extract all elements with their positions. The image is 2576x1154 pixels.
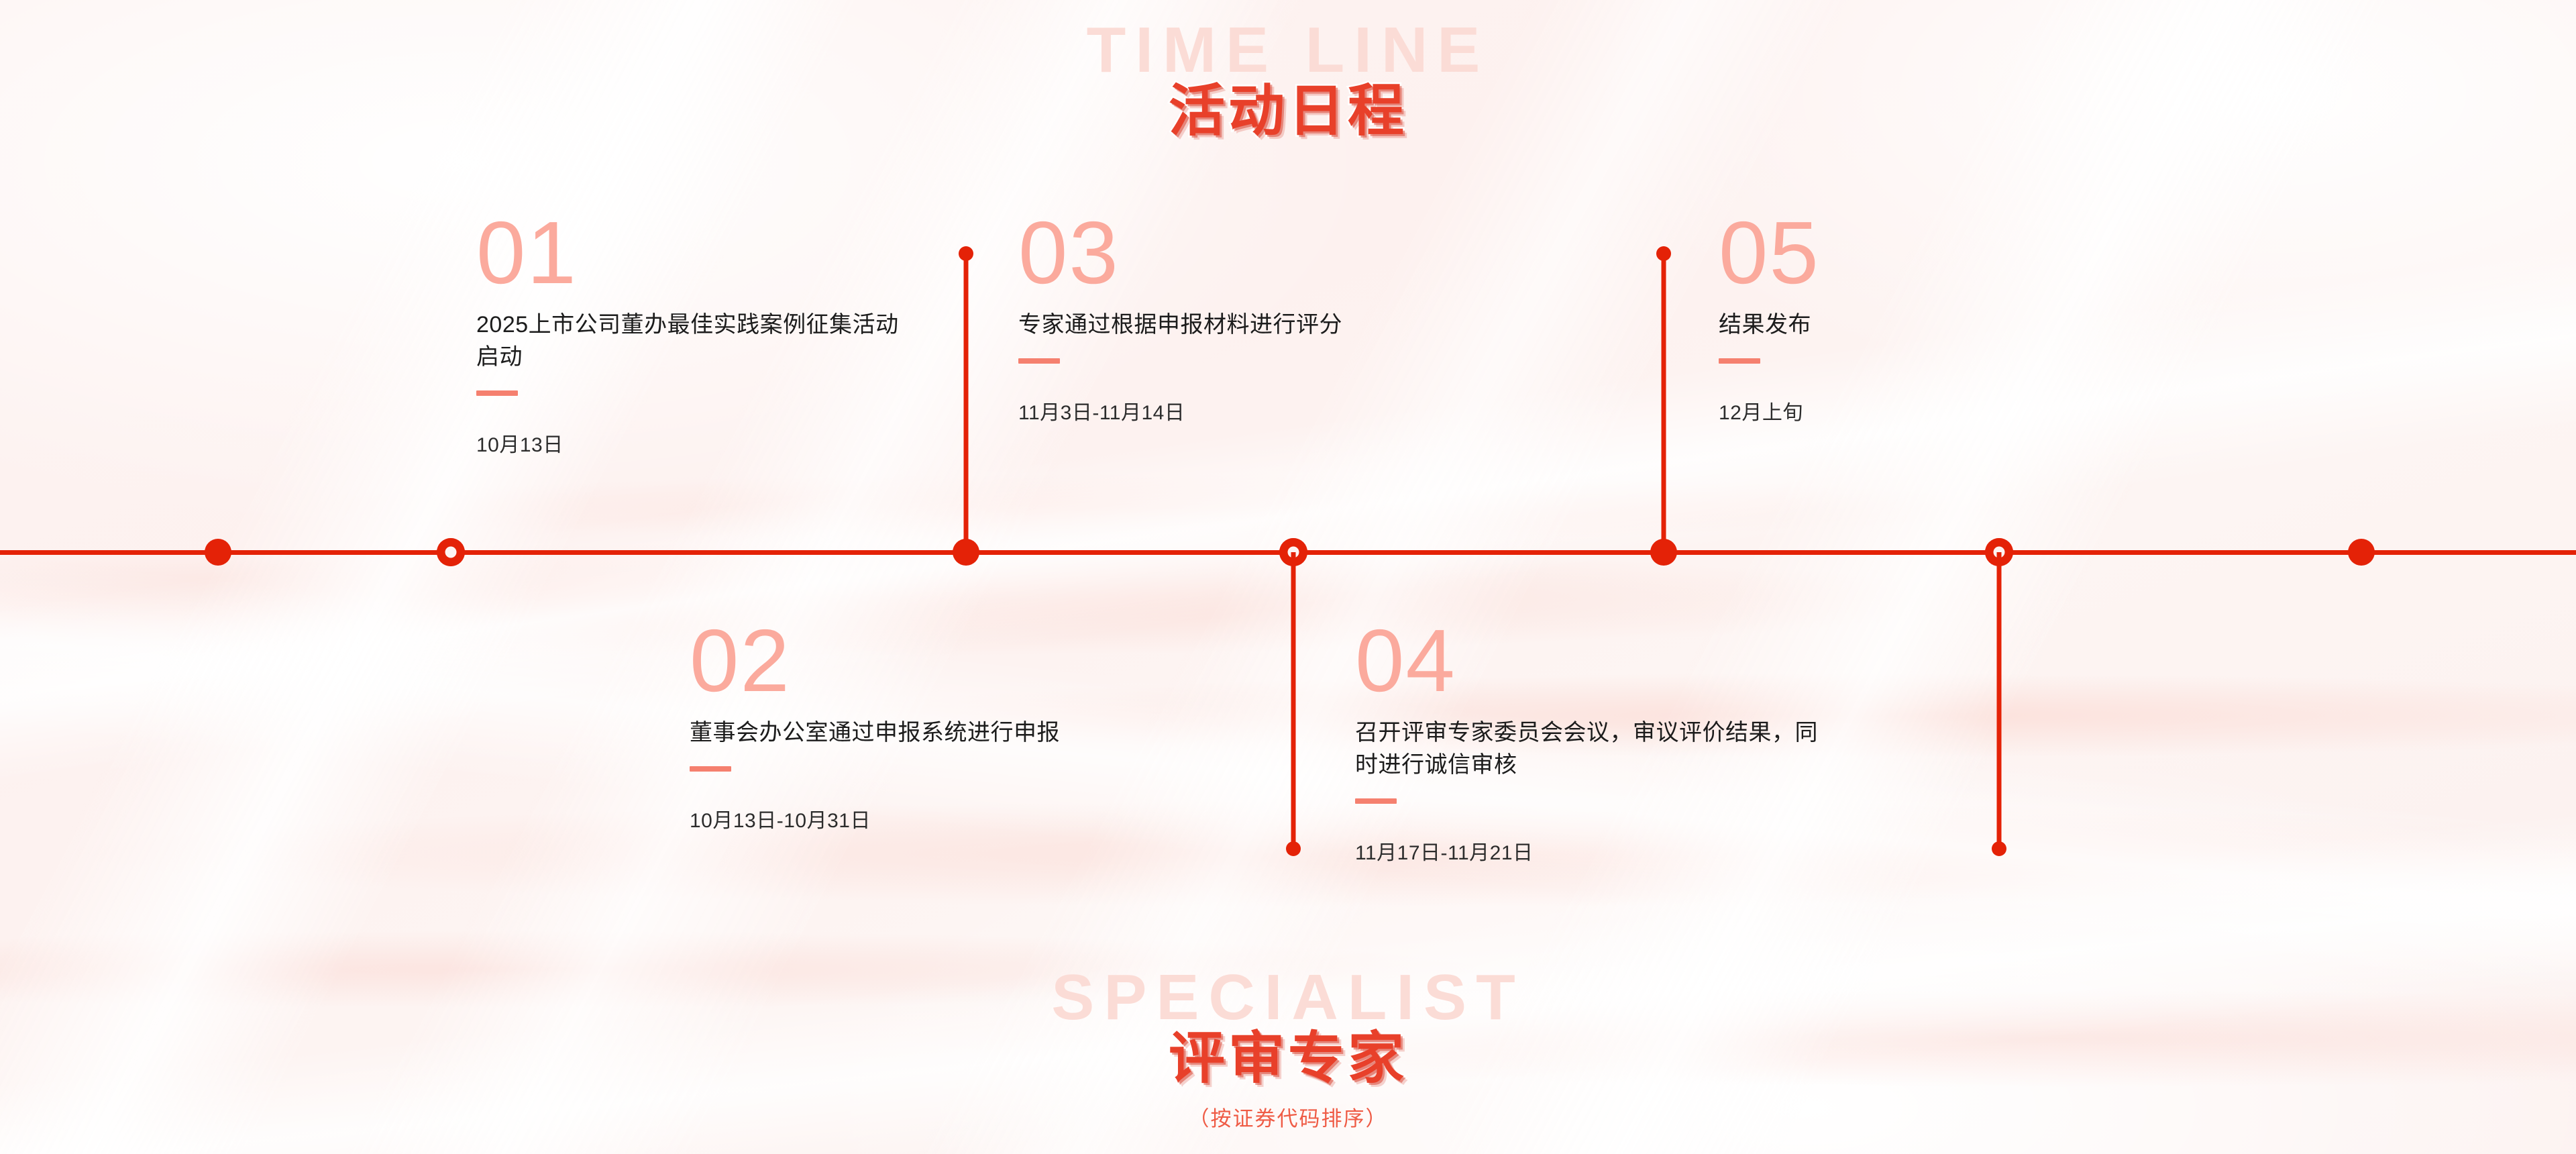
timeline-item-04-date: 11月17日-11月21日 <box>1355 836 1838 865</box>
stem-cap-03 <box>959 246 973 261</box>
background-base <box>0 0 2576 1154</box>
schedule-watermark: TIME LINE <box>0 13 2576 87</box>
specialist-title: 评审专家 <box>1169 1013 1407 1094</box>
timeline-item-02-title: 董事会办公室通过申报系统进行申报 <box>690 717 1159 749</box>
background-highlights <box>0 0 2576 1154</box>
timeline-item-03-date: 11月3日-11月14日 <box>1018 396 1488 425</box>
timeline-item-01-rule <box>476 390 518 396</box>
timeline-item-02-date: 10月13日-10月31日 <box>690 804 1159 833</box>
timeline-item-01-date: 10月13日 <box>476 428 919 458</box>
stem-05 <box>1662 254 1666 552</box>
timeline-item-02-rule <box>690 766 731 772</box>
specialist-heading: SPECIALIST 评审专家 （按证券代码排序） <box>0 961 2576 1042</box>
timeline-item-02[interactable]: 02 董事会办公室通过申报系统进行申报 10月13日-10月31日 <box>690 623 1159 833</box>
timeline-infographic: TIME LINE 活动日程 01 2025上市公司董办最佳实践案例征集活动启动… <box>0 0 2576 1154</box>
timeline-item-05-rule <box>1719 358 1760 364</box>
stem-02 <box>1291 552 1296 849</box>
timeline-item-03[interactable]: 03 专家通过根据申报材料进行评分 11月3日-11月14日 <box>1018 215 1488 425</box>
specialist-watermark: SPECIALIST <box>0 961 2576 1035</box>
schedule-title: 活动日程 <box>1169 66 1407 147</box>
timeline-item-01-title: 2025上市公司董办最佳实践案例征集活动启动 <box>476 309 919 374</box>
timeline-item-04-rule <box>1355 798 1397 804</box>
stem-04 <box>1997 552 2002 849</box>
timeline-item-03-title: 专家通过根据申报材料进行评分 <box>1018 309 1488 341</box>
stem-03 <box>964 254 969 552</box>
timeline-item-01[interactable]: 01 2025上市公司董办最佳实践案例征集活动启动 10月13日 <box>476 215 919 458</box>
timeline-item-05-date: 12月上旬 <box>1719 396 2135 425</box>
timeline-item-05-title: 结果发布 <box>1719 309 2135 341</box>
timeline-item-02-number: 02 <box>690 623 1159 699</box>
axis-node-01 <box>437 538 465 566</box>
stem-cap-04 <box>1992 841 2006 856</box>
timeline-item-05[interactable]: 05 结果发布 12月上旬 <box>1719 215 2135 425</box>
specialist-subtitle: （按证券代码排序） <box>0 1102 2576 1132</box>
background-streaks <box>0 0 2576 1154</box>
timeline-item-05-number: 05 <box>1719 215 2135 291</box>
stem-cap-02 <box>1286 841 1301 856</box>
axis-marker-dot-left <box>205 539 231 566</box>
timeline-item-04-number: 04 <box>1355 623 1838 699</box>
schedule-heading: TIME LINE 活动日程 <box>0 13 2576 95</box>
timeline-item-04-title: 召开评审专家委员会会议，审议评价结果，同时进行诚信审核 <box>1355 717 1838 782</box>
axis-marker-dot-right <box>2348 539 2375 566</box>
timeline-item-04[interactable]: 04 召开评审专家委员会会议，审议评价结果，同时进行诚信审核 11月17日-11… <box>1355 623 1838 865</box>
timeline-item-03-rule <box>1018 358 1060 364</box>
background-waves <box>0 0 2576 1154</box>
timeline-item-03-number: 03 <box>1018 215 1488 291</box>
timeline-item-01-number: 01 <box>476 215 919 291</box>
stem-cap-05 <box>1656 246 1671 261</box>
